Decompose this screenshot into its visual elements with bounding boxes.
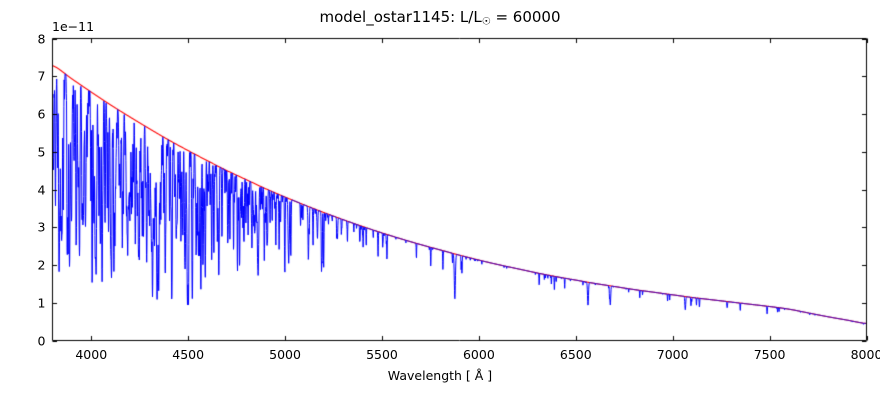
x-tick-label: 6000	[449, 347, 509, 362]
x-tick-label: 7000	[643, 347, 703, 362]
x-tick-label: 8000	[837, 347, 880, 362]
x-tick-label: 4500	[158, 347, 218, 362]
plot-canvas-holder	[0, 0, 880, 404]
y-tick-label: 5	[16, 144, 46, 159]
plot-canvas	[0, 0, 880, 400]
y-tick-label: 2	[16, 258, 46, 273]
x-tick-label: 7500	[740, 347, 800, 362]
x-tick-label: 4000	[61, 347, 121, 362]
y-tick-label: 7	[16, 69, 46, 84]
x-tick-label: 5500	[352, 347, 412, 362]
y-tick-label: 4	[16, 182, 46, 197]
y-tick-label: 6	[16, 107, 46, 122]
spectrum-figure: model_ostar1145: L/L☉ = 60000 1e−11 Flux…	[0, 0, 880, 400]
x-tick-label: 6500	[546, 347, 606, 362]
x-tick-label: 5000	[255, 347, 315, 362]
y-tick-label: 1	[16, 295, 46, 310]
y-tick-label: 8	[16, 31, 46, 46]
y-tick-label: 0	[16, 333, 46, 348]
y-tick-label: 3	[16, 220, 46, 235]
